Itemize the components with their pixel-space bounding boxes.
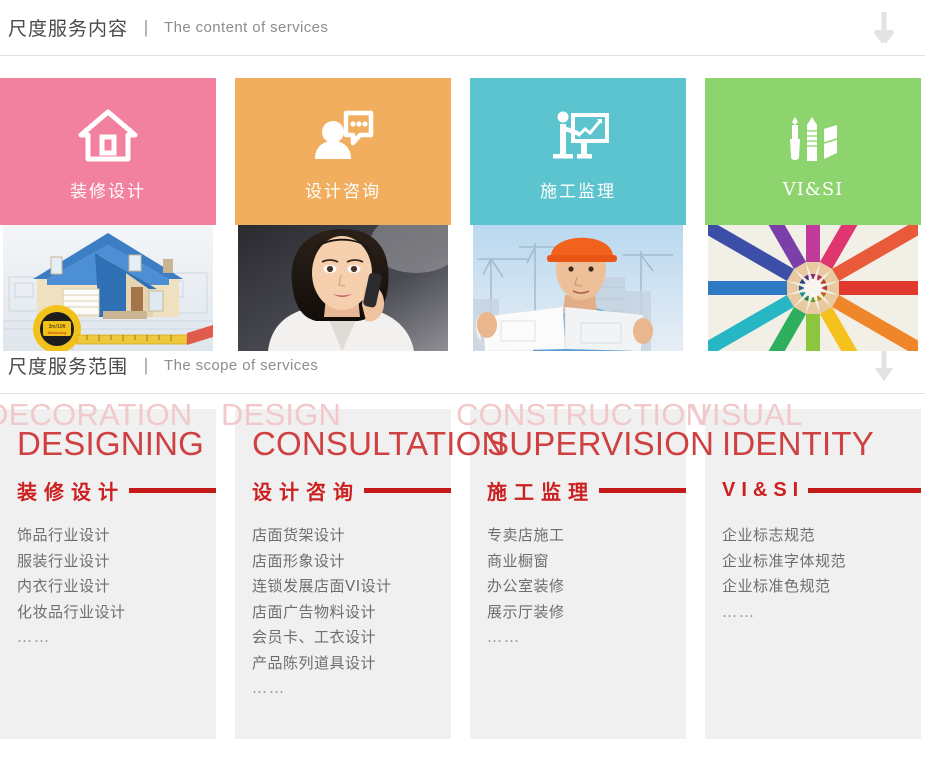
engineer-hardhat-blueprint-photo [473,225,683,351]
scope-title-en: CONSULTATION [252,427,451,461]
scope-title-cn-row: VI&SI [722,477,921,503]
list-item: 专卖店施工 [487,523,686,549]
service-card-label: 装修设计 [70,177,146,202]
scope-column: CONSTRUCTION SUPERVISION 施工监理 专卖店施工 商业橱窗… [470,409,686,739]
service-card-label: 设计咨询 [305,177,381,202]
list-item-ellipsis: …… [17,625,216,651]
scope-item-list: 饰品行业设计 服装行业设计 内衣行业设计 化妆品行业设计 …… [17,523,216,651]
list-item: 店面形象设计 [252,549,451,575]
list-item: 展示厅装修 [487,600,686,626]
scope-title-cn-row: 设计咨询 [252,477,451,503]
service-card[interactable]: 施工监理 [470,78,686,358]
scope-item-list: 店面货架设计 店面形象设计 连锁发展店面VI设计 店面广告物料设计 会员卡、工衣… [252,523,451,702]
section-header-services: 尺度服务内容 丨 The content of services [0,0,925,56]
list-item: 企业标准色规范 [722,574,921,600]
scope-title-cn: 施工监理 [487,476,595,505]
list-item-ellipsis: …… [487,625,686,651]
list-item: 连锁发展店面VI设计 [252,574,451,600]
scope-title-cn-row: 装修设计 [17,477,216,503]
list-item: 商业橱窗 [487,549,686,575]
section-title-en: The scope of services [164,357,318,374]
list-item: 企业标准字体规范 [722,549,921,575]
svg-text:Measuring: Measuring [48,330,67,335]
scope-title-cn: 装修设计 [17,476,125,505]
list-item: 服装行业设计 [17,549,216,575]
arrow-down-icon[interactable] [873,349,895,383]
scope-columns-row: DECORATION DESIGNING 装修设计 饰品行业设计 服装行业设计 … [0,394,925,739]
list-item: 饰品行业设计 [17,523,216,549]
section-title-cn: 尺度服务范围 [8,352,128,379]
scope-title-en: IDENTITY [722,427,921,461]
service-cards-row: 装修设计 [0,56,925,338]
service-card[interactable]: 设计咨询 [235,78,451,358]
list-item: 化妆品行业设计 [17,600,216,626]
scope-column: VISUAL IDENTITY VI&SI 企业标志规范 企业标准字体规范 企业… [705,409,921,739]
house-model-blueprint-tape-measure-photo: 3m/10ft Measuring [3,225,213,351]
service-card-header: 设计咨询 [235,78,451,225]
list-item-ellipsis: …… [722,600,921,626]
section-title-divider: 丨 [137,353,155,379]
section-title-divider: 丨 [137,15,155,41]
presentation-chart-icon [547,107,609,163]
title-underline-rule [599,488,686,493]
title-underline-rule [129,488,216,493]
scope-title-en: SUPERVISION [487,427,686,461]
list-item: 办公室装修 [487,574,686,600]
section-title-cn: 尺度服务内容 [8,14,128,41]
service-card-label: 施工监理 [540,177,616,202]
scope-title-cn: VI&SI [722,479,804,502]
title-underline-rule [364,488,451,493]
scope-item-list: 专卖店施工 商业橱窗 办公室装修 展示厅装修 …… [487,523,686,651]
woman-on-phone-photo [238,225,448,351]
list-item-ellipsis: …… [252,676,451,702]
list-item: 产品陈列道具设计 [252,651,451,677]
service-card[interactable]: 装修设计 [0,78,216,358]
service-card[interactable]: VI&SI [705,78,921,358]
scope-column: DESIGN CONSULTATION 设计咨询 店面货架设计 店面形象设计 连… [235,409,451,739]
scope-title-cn-row: 施工监理 [487,477,686,503]
list-item: 店面广告物料设计 [252,600,451,626]
list-item: 内衣行业设计 [17,574,216,600]
pen-pencil-eraser-icon [784,109,842,165]
service-card-header: 施工监理 [470,78,686,225]
list-item: 店面货架设计 [252,523,451,549]
service-card-header: VI&SI [705,78,921,225]
scope-title-en: DESIGNING [17,427,216,461]
list-item: 企业标志规范 [722,523,921,549]
person-chat-icon [312,107,374,163]
scope-title-cn: 设计咨询 [252,476,360,505]
scope-column: DECORATION DESIGNING 装修设计 饰品行业设计 服装行业设计 … [0,409,216,739]
service-card-label: VI&SI [783,179,844,200]
colored-pencils-circle-photo [708,225,918,351]
service-card-header: 装修设计 [0,78,216,225]
scope-item-list: 企业标志规范 企业标准字体规范 企业标准色规范 …… [722,523,921,625]
title-underline-rule [808,488,921,493]
section-title-en: The content of services [164,19,328,36]
list-item: 会员卡、工衣设计 [252,625,451,651]
house-icon [78,107,138,163]
section-header-scope: 尺度服务范围 丨 The scope of services [0,338,925,394]
arrow-down-icon[interactable] [873,11,895,45]
